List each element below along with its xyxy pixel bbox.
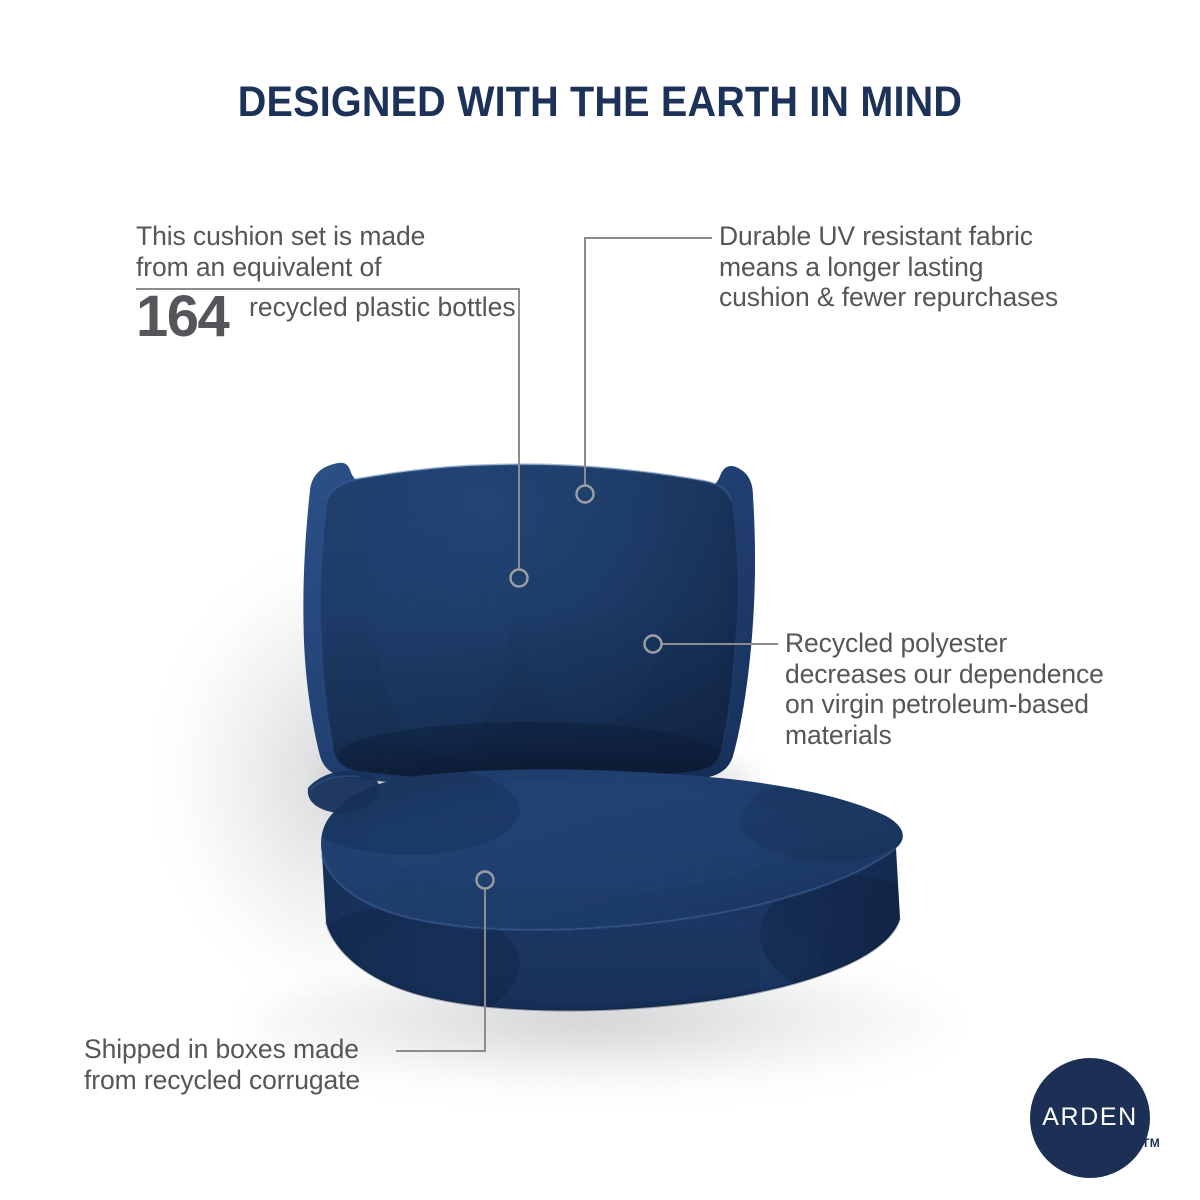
callout-polyester-line-3: on virgin petroleum-based [785, 689, 1155, 720]
logo-wordmark: ARDEN [1042, 1103, 1138, 1132]
logo-circle: ARDEN [1030, 1058, 1150, 1178]
callout-recycled-bottles: This cushion set is made from an equival… [136, 221, 536, 282]
callout-shipping-line-1: Shipped in boxes made [84, 1034, 414, 1065]
bottles-unit-label: recycled plastic bottles [249, 292, 516, 323]
back-cushion-face [292, 386, 760, 786]
callout-uv-line-1: Durable UV resistant fabric [719, 221, 1109, 252]
back-pillow-cushion [292, 386, 760, 786]
callout-uv-resistant: Durable UV resistant fabric means a long… [719, 221, 1109, 313]
callout-bottles-line-2: from an equivalent of [136, 252, 536, 283]
bottles-unit-line-2: plastic bottles [355, 292, 516, 322]
callout-bottles-stat: 164 recycled plastic bottles [136, 292, 536, 354]
seat-cushion [290, 750, 920, 1050]
callout-shipping-line-2: from recycled corrugate [84, 1065, 414, 1096]
callout-polyester-line-1: Recycled polyester [785, 628, 1155, 659]
arden-logo: ARDEN TM [1030, 1058, 1150, 1178]
callout-polyester-line-4: materials [785, 720, 1155, 751]
callout-recycled-polyester: Recycled polyester decreases our depende… [785, 628, 1155, 751]
logo-trademark-symbol: TM [1142, 1136, 1160, 1150]
callout-polyester-line-2: decreases our dependence [785, 659, 1155, 690]
bottles-unit-line-1: recycled [249, 292, 348, 322]
infographic-root: DESIGNED WITH THE EARTH IN MIND [0, 0, 1200, 1200]
callout-recycled-shipping: Shipped in boxes made from recycled corr… [84, 1034, 414, 1095]
callout-bottles-line-1: This cushion set is made [136, 221, 536, 252]
product-photo [0, 0, 1200, 1200]
callout-uv-line-3: cushion & fewer repurchases [719, 282, 1109, 313]
callout-uv-line-2: means a longer lasting [719, 252, 1109, 283]
bottles-count-number: 164 [136, 288, 228, 346]
